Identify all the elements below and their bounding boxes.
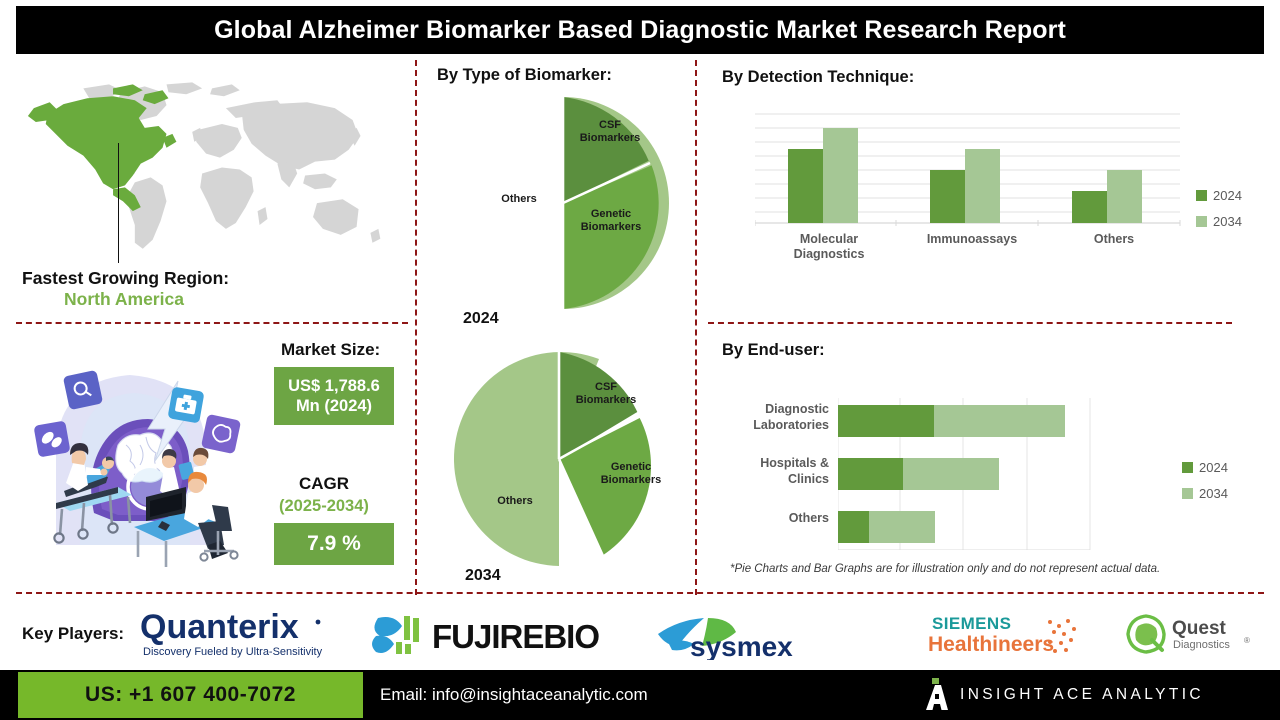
legend-label-2024-enduser: 2024 [1199,460,1228,475]
pie-2034-year: 2034 [465,567,501,585]
svg-text:Discovery Fueled by Ultra-Sens: Discovery Fueled by Ultra-Sensitivity [143,646,323,658]
logo-fujirebio: FUJIREBIO [368,612,606,658]
divider-horizontal-left [16,322,408,324]
detection-xlabel-immunoassays: Immunoassays [912,232,1032,246]
divider-horizontal-bottom [16,592,1264,594]
bar-2034-immunoassays [965,149,1000,223]
bar-2024-others [1072,191,1107,223]
pie-chart-2034 [444,352,674,566]
legend-swatch-2024-enduser [1182,462,1193,473]
pie-chart-2024 [451,97,675,309]
bar-2024-hospitals [838,458,903,490]
footer-phone[interactable]: US: +1 607 400-7072 [18,672,363,718]
logo-siemens-healthineers: SIEMENS Healthineers [928,612,1086,658]
section-title-biomarker: By Type of Biomarker: [437,66,612,85]
bar-2024-molecular [788,149,823,223]
world-map [18,78,414,263]
cagr-label: CAGR [299,474,349,494]
bar-2024-immunoassays [930,170,965,223]
logo-sysmex: sysmex [652,612,820,660]
detection-chart-legend: 2024 2034 [1196,188,1242,240]
bar-2034-molecular [823,128,858,223]
fastest-region-value: North America [64,289,184,310]
logo-quanterix: Quanterix Discovery Fueled by Ultra-Sens… [140,608,330,662]
enduser-ylabel-hospitals: Hospitals &Clinics [723,456,829,487]
svg-text:sysmex: sysmex [690,631,793,660]
detection-technique-chart [755,108,1195,238]
legend-swatch-2024 [1196,190,1207,201]
page-title: Global Alzheimer Biomarker Based Diagnos… [214,16,1066,45]
legend-label-2034-enduser: 2034 [1199,486,1228,501]
enduser-ylabel-others: Others [723,511,829,525]
svg-text:Quanterix: Quanterix [140,608,299,646]
cagr-value: 7.9 % [274,523,394,565]
divider-horizontal-right [708,322,1232,324]
section-title-enduser: By End-user: [722,341,825,360]
end-user-chart-legend: 2024 2034 [1182,460,1228,512]
bar-2034-others-enduser [869,511,935,543]
enduser-ylabel-diagnostic: DiagnosticLaboratories [723,402,829,433]
chart-disclaimer: *Pie Charts and Bar Graphs are for illus… [730,563,1160,575]
fastest-region-label: Fastest Growing Region: [22,268,229,289]
key-players-label: Key Players: [22,624,124,644]
legend-item-2034-enduser: 2034 [1182,486,1228,501]
legend-swatch-2034-enduser [1182,488,1193,499]
legend-swatch-2034 [1196,216,1207,227]
legend-item-2034: 2034 [1196,214,1242,229]
footer-brand-name: INSIGHT ACE ANALYTIC [960,672,1204,718]
divider-vertical-right [695,60,697,595]
svg-text:FUJIREBIO: FUJIREBIO [432,618,599,655]
svg-text:Diagnostics: Diagnostics [1173,639,1230,651]
legend-label-2034: 2034 [1213,214,1242,229]
cagr-period: (2025-2034) [279,497,369,516]
svg-text:Quest: Quest [1172,618,1227,639]
bar-2034-diagnostic-labs [934,405,1065,437]
market-size-value: US$ 1,788.6 Mn (2024) [274,367,394,425]
insightace-logo-icon [920,678,954,712]
legend-item-2024-enduser: 2024 [1182,460,1228,475]
bar-2034-others [1107,170,1142,223]
bar-2024-diagnostic-labs [838,405,934,437]
legend-label-2024: 2024 [1213,188,1242,203]
svg-text:®: ® [1244,636,1250,645]
divider-vertical-left [415,60,417,595]
end-user-chart [838,398,1168,550]
svg-text:SIEMENS: SIEMENS [932,614,1011,633]
logo-quest-diagnostics: Quest Diagnostics ® [1126,614,1262,656]
bar-2034-hospitals [903,458,999,490]
market-size-label: Market Size: [281,340,380,360]
detection-xlabel-molecular: Molecular Diagnostics [769,232,889,263]
medical-illustration [22,345,272,575]
report-header-bar: Global Alzheimer Biomarker Based Diagnos… [16,6,1264,54]
section-title-detection: By Detection Technique: [722,68,914,87]
legend-item-2024: 2024 [1196,188,1242,203]
pie-2024-year: 2024 [463,310,499,328]
map-leader-line [118,143,119,263]
svg-text:Healthineers: Healthineers [928,633,1054,656]
footer-email[interactable]: Email: info@insightaceanalytic.com [380,672,648,718]
bar-2024-others-enduser [838,511,869,543]
detection-xlabel-others: Others [1054,232,1174,246]
